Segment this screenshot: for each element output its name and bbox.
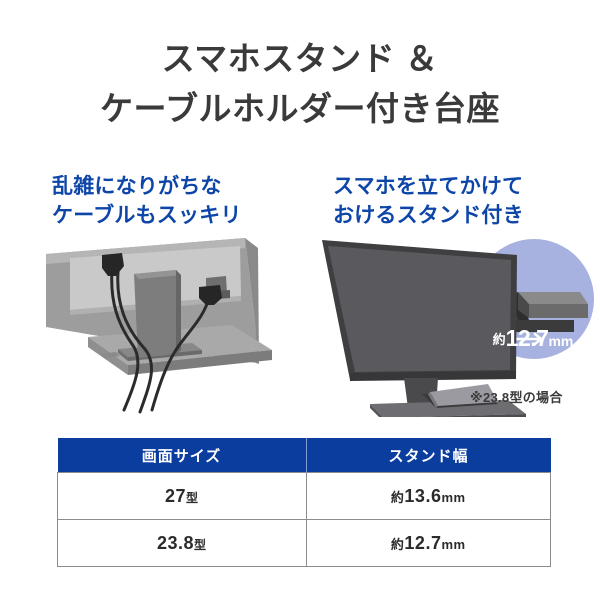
stand-width-approx-0: 約 — [391, 490, 405, 505]
table-row: 27型 約13.6mm — [58, 473, 551, 520]
stand-width-approx-1: 約 — [391, 537, 405, 552]
feature-right-heading-line-1: スマホを立てかけて — [333, 172, 524, 201]
screen-size-unit-0: 型 — [186, 491, 199, 505]
callout-width-label: 約12.7mm — [478, 325, 588, 352]
feature-left-heading-line-2: ケーブルもスッキリ — [52, 201, 242, 230]
screen-size-unit-1: 型 — [194, 538, 207, 552]
stand-width-value-0: 13.6 — [404, 486, 441, 506]
spec-table-header-stand-width: スタンド幅 — [306, 438, 551, 473]
callout-approx-prefix: 約 — [493, 332, 506, 347]
spec-cell-stand-width-0: 約13.6mm — [306, 473, 551, 520]
callout-width-unit: mm — [548, 333, 573, 349]
screen-size-value-0: 27 — [165, 486, 186, 506]
spec-table-header-screen-size: 画面サイズ — [58, 438, 307, 473]
table-row: 23.8型 約12.7mm — [58, 520, 551, 567]
screen-size-value-1: 23.8 — [157, 533, 194, 553]
spec-cell-screen-size-1: 23.8型 — [58, 520, 307, 567]
stand-width-unit-0: mm — [441, 490, 465, 505]
spec-table-header-row: 画面サイズ スタンド幅 — [58, 438, 551, 473]
page-title-line-1: スマホスタンド ＆ — [0, 34, 600, 84]
illustration-cable-holder — [40, 232, 305, 417]
page-title: スマホスタンド ＆ ケーブルホルダー付き台座 — [0, 34, 600, 134]
spec-cell-screen-size-0: 27型 — [58, 473, 307, 520]
stand-width-value-1: 12.7 — [404, 533, 441, 553]
spec-table: 画面サイズ スタンド幅 27型 約13.6mm 23.8型 約12.7mm — [57, 438, 551, 567]
feature-left-heading-line-1: 乱雑になりがちな — [52, 172, 242, 201]
stand-width-unit-1: mm — [441, 537, 465, 552]
callout-width-value: 12.7 — [506, 325, 549, 351]
footnote-screen-size: ※23.8型の場合 — [470, 387, 563, 406]
feature-left-heading: 乱雑になりがちな ケーブルもスッキリ — [52, 172, 242, 230]
page-title-line-2: ケーブルホルダー付き台座 — [0, 84, 600, 134]
feature-right-heading: スマホを立てかけて おけるスタンド付き — [333, 172, 524, 230]
spec-cell-stand-width-1: 約12.7mm — [306, 520, 551, 567]
feature-right-heading-line-2: おけるスタンド付き — [333, 201, 524, 230]
